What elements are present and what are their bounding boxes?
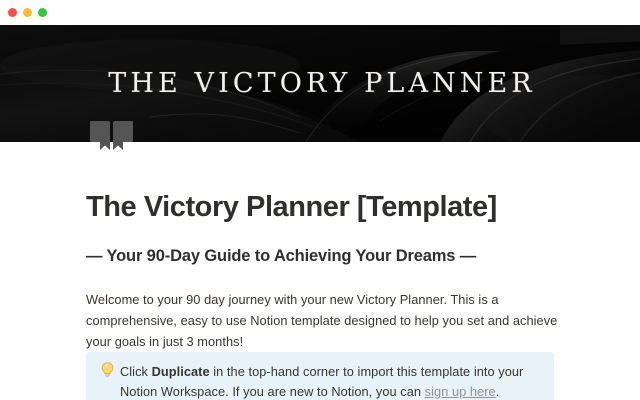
callout-text: Click Duplicate in the top-hand corner t… [117,362,542,400]
lightbulb-icon [97,362,117,381]
callout-text-after: . [496,384,500,399]
page-content: The Victory Planner [Template] — Your 90… [0,142,640,400]
close-window-button[interactable] [8,8,17,17]
maximize-window-button[interactable] [38,8,47,17]
page-subtitle: — Your 90-Day Guide to Achieving Your Dr… [86,247,476,266]
callout-text-before: Click [120,364,152,379]
browser-window: THE VICTORY PLANNER The Victory Planner … [0,0,640,400]
open-book-icon[interactable] [88,120,135,156]
window-controls [8,8,47,17]
window-titlebar [0,0,640,25]
sign-up-link[interactable]: sign up here [425,384,496,399]
callout-block[interactable]: Click Duplicate in the top-hand corner t… [86,352,554,400]
intro-paragraph: Welcome to your 90 day journey with your… [86,289,558,352]
page-title: The Victory Planner [Template] [86,191,497,224]
minimize-window-button[interactable] [23,8,32,17]
callout-bold-term: Duplicate [152,364,210,379]
